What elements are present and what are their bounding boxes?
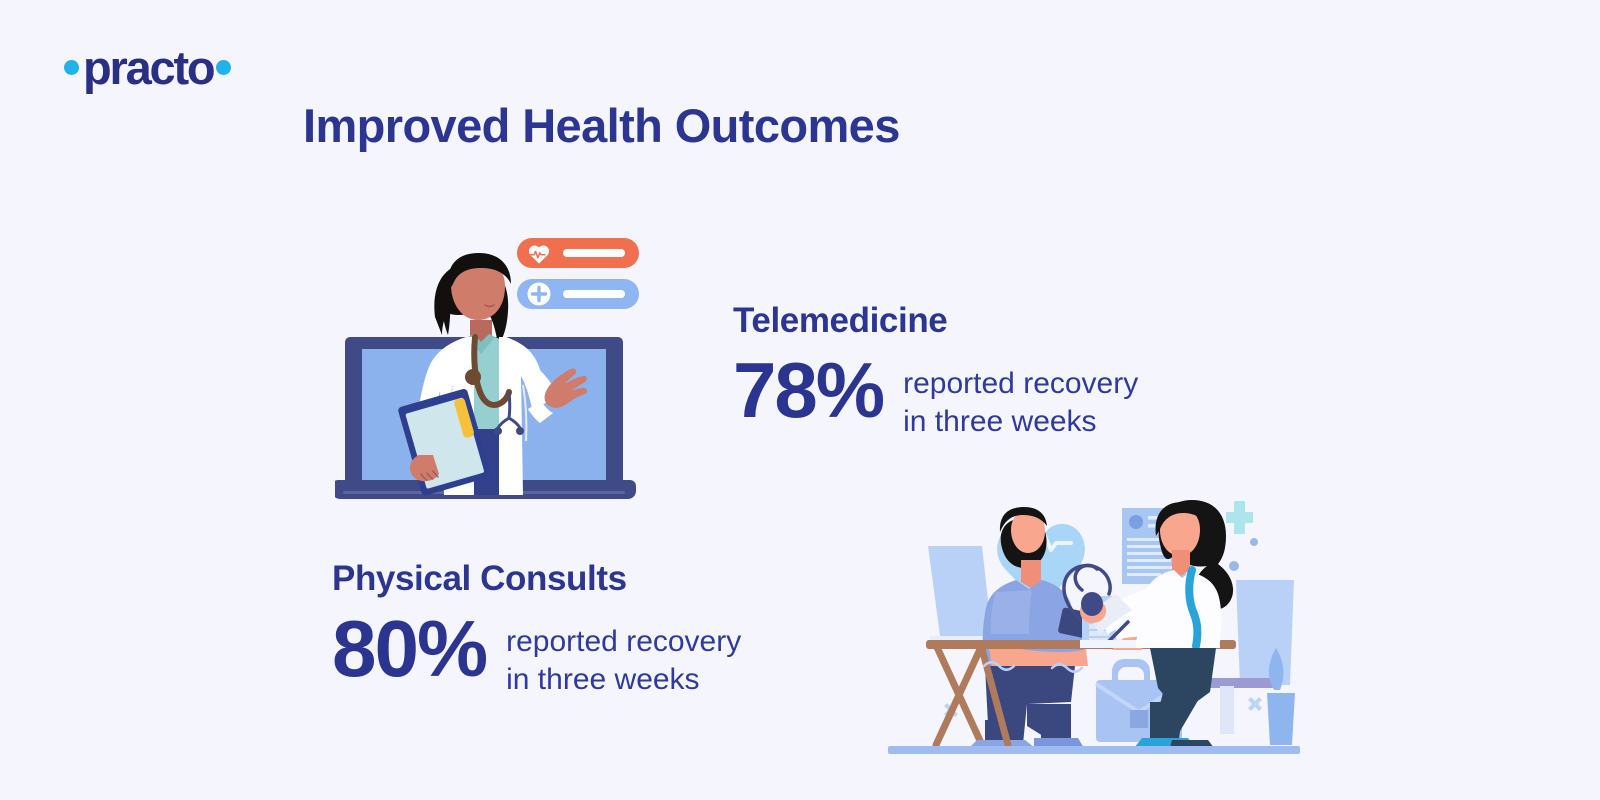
heartbeat-badge: [517, 238, 639, 268]
stat-telemedicine-description-line1: reported recovery: [903, 365, 1138, 403]
floor-line: [888, 746, 1300, 754]
stat-physical-consults-percent: 80%: [332, 611, 486, 688]
logo-left-dot-icon: [64, 60, 79, 75]
doctor-on-laptop-illustration: [335, 225, 680, 515]
logo-right-dot-icon: [216, 60, 231, 75]
stat-telemedicine-percent: 78%: [733, 353, 883, 428]
stat-physical-consults-heading: Physical Consults: [332, 560, 741, 599]
stat-telemedicine: Telemedicine 78% reported recovery in th…: [733, 302, 1138, 441]
stat-physical-consults-description-line2: in three weeks: [506, 661, 741, 699]
practo-logo[interactable]: practo: [64, 44, 231, 90]
page-title: Improved Health Outcomes: [303, 98, 900, 154]
logo-wordmark: practo: [79, 44, 216, 91]
stat-physical-consults-row: 80% reported recovery in three weeks: [332, 611, 741, 700]
stat-telemedicine-heading: Telemedicine: [733, 302, 1138, 341]
medical-plus-badge: [517, 279, 639, 309]
stat-telemedicine-row: 78% reported recovery in three weeks: [733, 353, 1138, 442]
doctor-patient-consultation-illustration: [884, 488, 1304, 756]
stat-telemedicine-description: reported recovery in three weeks: [903, 353, 1138, 442]
stat-telemedicine-description-line2: in three weeks: [903, 403, 1138, 441]
stat-physical-consults-description-line1: reported recovery: [506, 623, 741, 661]
stat-physical-consults-description: reported recovery in three weeks: [506, 611, 741, 700]
stat-physical-consults: Physical Consults 80% reported recovery …: [332, 560, 741, 699]
infographic-canvas: practo Improved Health Outcomes: [0, 0, 1600, 800]
